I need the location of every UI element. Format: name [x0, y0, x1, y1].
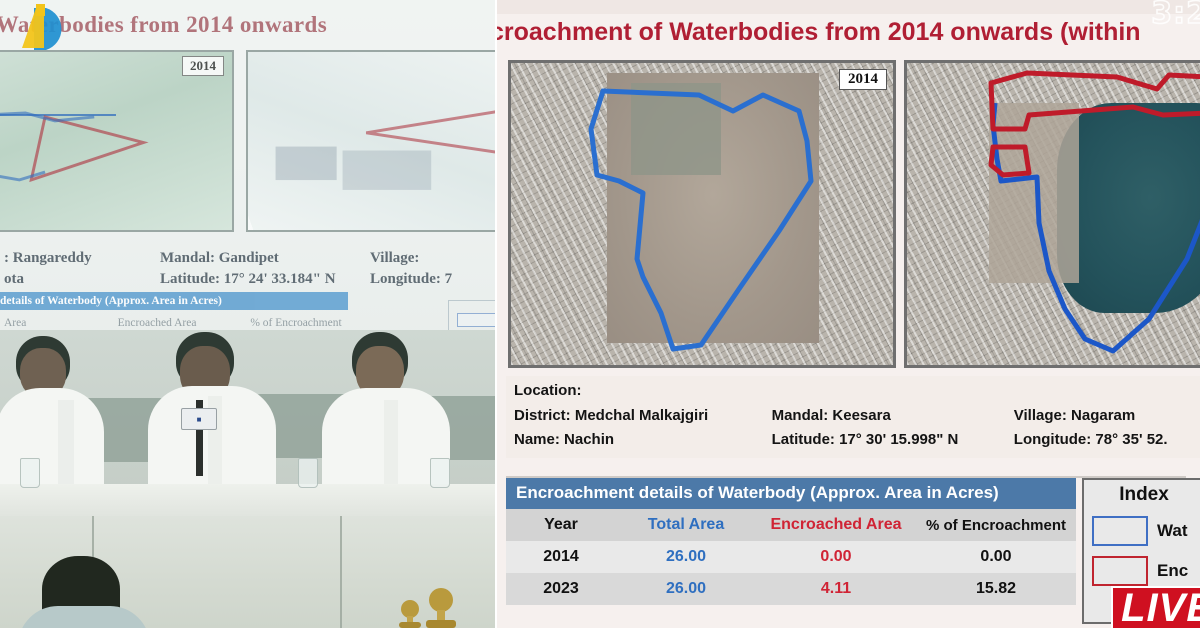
- cell-year: 2014: [506, 541, 616, 573]
- location-row-1: District: Medchal Malkajgiri Mandal: Kee…: [512, 404, 1200, 428]
- slide-title: croachment of Waterbodies from 2014 onwa…: [496, 18, 1200, 47]
- cell-encroached-area: 0.00: [756, 541, 916, 573]
- index-row-encroachment: Enc: [1092, 556, 1200, 586]
- cell-encroached-area: 4.11: [756, 573, 916, 605]
- left-district: : Rangareddy: [0, 250, 160, 267]
- waterbody-and-encroachment-outline-2023: [907, 63, 1200, 365]
- cell-percent: 15.82: [916, 573, 1076, 605]
- village-value: Village: Nagaram: [1014, 407, 1200, 424]
- encroachment-color-swatch: [1092, 556, 1148, 586]
- cell-year: 2023: [506, 573, 616, 605]
- left-satellite-image-2023: [246, 50, 496, 232]
- left-polygon-overlay-b: [248, 52, 496, 231]
- satellite-image-2023: [904, 60, 1200, 368]
- index-row-waterbody: Wat: [1092, 516, 1200, 546]
- left-col-percent: % of Encroachment: [232, 317, 360, 329]
- column-header-percent-encroachment: % of Encroachment: [916, 510, 1076, 541]
- cell-total-area: 26.00: [616, 541, 756, 573]
- column-header-year: Year: [506, 509, 616, 541]
- conference-table-top: [0, 484, 496, 520]
- table-title-bar: Encroachment details of Waterbody (Appro…: [506, 478, 1076, 509]
- waterbody-label: Wat: [1157, 521, 1188, 541]
- encroachment-table: Encroachment details of Waterbody (Appro…: [506, 478, 1076, 605]
- waterbody-color-swatch: [1092, 516, 1148, 546]
- location-label: Location:: [512, 380, 1200, 404]
- left-location-block: : Rangareddy Mandal: Gandipet Village: o…: [0, 248, 496, 290]
- location-row-2: Name: Nachin Latitude: 17° 30' 15.998" N…: [512, 428, 1200, 452]
- table-seam: [340, 516, 342, 628]
- column-header-encroached-area: Encroached Area: [756, 509, 916, 541]
- name-value: Name: Nachin: [514, 431, 772, 448]
- left-table-header: details of Waterbody (Approx. Area in Ac…: [0, 292, 348, 310]
- waterbody-outline-2014: [511, 63, 893, 365]
- cell-total-area: 26.00: [616, 573, 756, 605]
- encroachment-label: Enc: [1157, 561, 1188, 581]
- table-column-headers: Year Total Area Encroached Area % of Enc…: [506, 509, 1076, 541]
- table-row: 2023 26.00 4.11 15.82: [506, 573, 1076, 605]
- left-col-encroached: Encroached Area: [82, 317, 232, 329]
- table-row: 2014 26.00 0.00 0.00: [506, 541, 1076, 573]
- satellite-image-2014: 2014: [508, 60, 896, 368]
- left-longitude: Longitude: 7: [370, 271, 496, 288]
- left-polygon-overlay-a: [0, 52, 232, 231]
- broadcast-screenshot: f Waterbodies from 2014 onwards 2014: [0, 0, 1200, 628]
- left-video-panel: f Waterbodies from 2014 onwards 2014: [0, 0, 496, 628]
- left-mandal: Mandal: Gandipet: [160, 250, 370, 267]
- microphone-flag-logo: ■: [181, 408, 217, 430]
- left-satellite-image-2014: 2014: [0, 50, 234, 232]
- left-name: ota: [0, 271, 160, 288]
- slide-top-margin: [496, 0, 1200, 14]
- left-latitude: Latitude: 17° 24' 33.184" N: [160, 271, 370, 288]
- longitude-value: Longitude: 78° 35' 52.: [1014, 431, 1200, 448]
- cell-percent: 0.00: [916, 541, 1076, 573]
- left-village: Village:: [370, 250, 496, 267]
- year-badge-2014: 2014: [839, 69, 887, 90]
- water-glass: [20, 458, 40, 488]
- live-badge: LIVE: [1111, 586, 1200, 628]
- right-slide-panel: 3:2 croachment of Waterbodies from 2014 …: [496, 0, 1200, 628]
- channel-logo-icon: [14, 2, 80, 54]
- left-index-swatch-waterbody: [457, 313, 496, 327]
- index-title: Index: [1084, 480, 1200, 506]
- satellite-image-row: 2014: [496, 54, 1200, 374]
- left-location-row-2: ota Latitude: 17° 24' 33.184" N Longitud…: [0, 269, 496, 290]
- water-glass: [430, 458, 450, 488]
- left-col-area: Area: [0, 317, 82, 329]
- mandal-value: Mandal: Keesara: [772, 407, 1014, 424]
- panel-divider: [495, 0, 497, 628]
- trophy-decoration: [398, 600, 422, 628]
- trophy-decoration: [424, 588, 458, 628]
- water-glass: [298, 458, 318, 488]
- column-header-total-area: Total Area: [616, 509, 756, 541]
- location-details-block: Location: District: Medchal Malkajgiri M…: [506, 376, 1200, 458]
- left-location-row-1: : Rangareddy Mandal: Gandipet Village:: [0, 248, 496, 269]
- district-value: District: Medchal Malkajgiri: [514, 407, 772, 424]
- table-and-index-row: Encroachment details of Waterbody (Appro…: [504, 478, 1200, 628]
- latitude-value: Latitude: 17° 30' 15.998" N: [772, 431, 1014, 448]
